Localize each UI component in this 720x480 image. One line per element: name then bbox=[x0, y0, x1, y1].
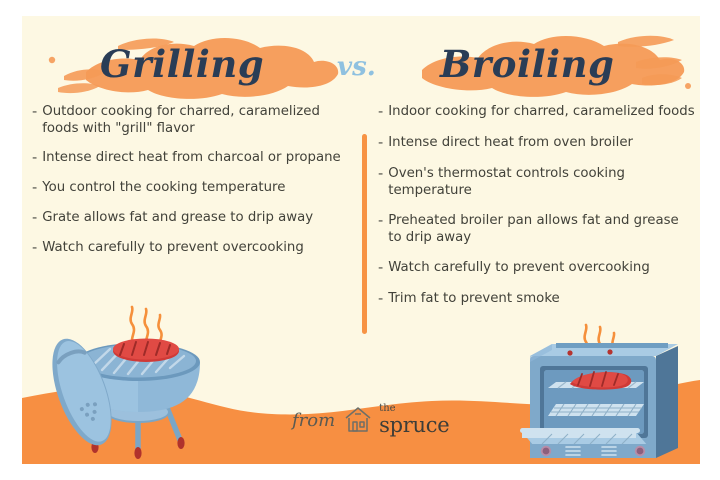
house-icon bbox=[343, 405, 373, 435]
title-grilling: Grilling bbox=[100, 42, 264, 86]
list-item: - Preheated broiler pan allows fat and g… bbox=[378, 213, 696, 246]
bullet-text: Oven's thermostat controls cooking tempe… bbox=[388, 166, 696, 199]
oven-broiler-illustration bbox=[518, 316, 683, 464]
bullet-marker: - bbox=[32, 210, 37, 227]
infographic-card: Grilling vs. Broiling - Outdoor cooking … bbox=[22, 16, 700, 464]
title-broiling: Broiling bbox=[440, 42, 614, 86]
bullet-text: Indoor cooking for charred, caramelized … bbox=[388, 104, 694, 121]
bullet-text: Watch carefully to prevent overcooking bbox=[388, 260, 650, 277]
bullet-marker: - bbox=[378, 166, 383, 183]
list-item: - Grate allows fat and grease to drip aw… bbox=[32, 210, 352, 227]
bullet-marker: - bbox=[32, 240, 37, 257]
column-divider bbox=[362, 134, 367, 334]
bullet-text: Grate allows fat and grease to drip away bbox=[42, 210, 313, 227]
bullet-text: You control the cooking temperature bbox=[42, 180, 285, 197]
list-item: - Watch carefully to prevent overcooking bbox=[378, 260, 696, 277]
brand-logo: from the spruce bbox=[292, 400, 449, 440]
logo-spruce-label: spruce bbox=[379, 415, 449, 436]
list-item: - Oven's thermostat controls cooking tem… bbox=[378, 166, 696, 199]
bullet-text: Preheated broiler pan allows fat and gre… bbox=[388, 213, 696, 246]
bullet-marker: - bbox=[378, 291, 383, 308]
column-broiling: - Indoor cooking for charred, caramelize… bbox=[378, 104, 696, 322]
bullet-marker: - bbox=[378, 260, 383, 277]
title-versus: vs. bbox=[337, 52, 376, 82]
bullet-text: Trim fat to prevent smoke bbox=[388, 291, 560, 308]
list-item: - Indoor cooking for charred, caramelize… bbox=[378, 104, 696, 121]
bullet-text: Intense direct heat from oven broiler bbox=[388, 135, 633, 152]
bullet-marker: - bbox=[378, 135, 383, 152]
list-item: - Watch carefully to prevent overcooking bbox=[32, 240, 352, 257]
title-band: Grilling vs. Broiling bbox=[22, 16, 700, 108]
column-grilling: - Outdoor cooking for charred, carameliz… bbox=[32, 104, 352, 270]
logo-from-label: from bbox=[292, 410, 335, 431]
list-item: - Intense direct heat from oven broiler bbox=[378, 135, 696, 152]
list-item: - Intense direct heat from charcoal or p… bbox=[32, 150, 352, 167]
list-item: - You control the cooking temperature bbox=[32, 180, 352, 197]
list-item: - Outdoor cooking for charred, carameliz… bbox=[32, 104, 352, 137]
bullet-marker: - bbox=[32, 104, 37, 121]
bullet-marker: - bbox=[32, 180, 37, 197]
list-item: - Trim fat to prevent smoke bbox=[378, 291, 696, 308]
bullet-text: Watch carefully to prevent overcooking bbox=[42, 240, 304, 257]
bullet-text: Outdoor cooking for charred, caramelized… bbox=[42, 104, 352, 137]
bullet-marker: - bbox=[378, 213, 383, 230]
bullet-text: Intense direct heat from charcoal or pro… bbox=[42, 150, 340, 167]
charcoal-grill-illustration bbox=[40, 304, 230, 464]
bullet-marker: - bbox=[32, 150, 37, 167]
bullet-marker: - bbox=[378, 104, 383, 121]
